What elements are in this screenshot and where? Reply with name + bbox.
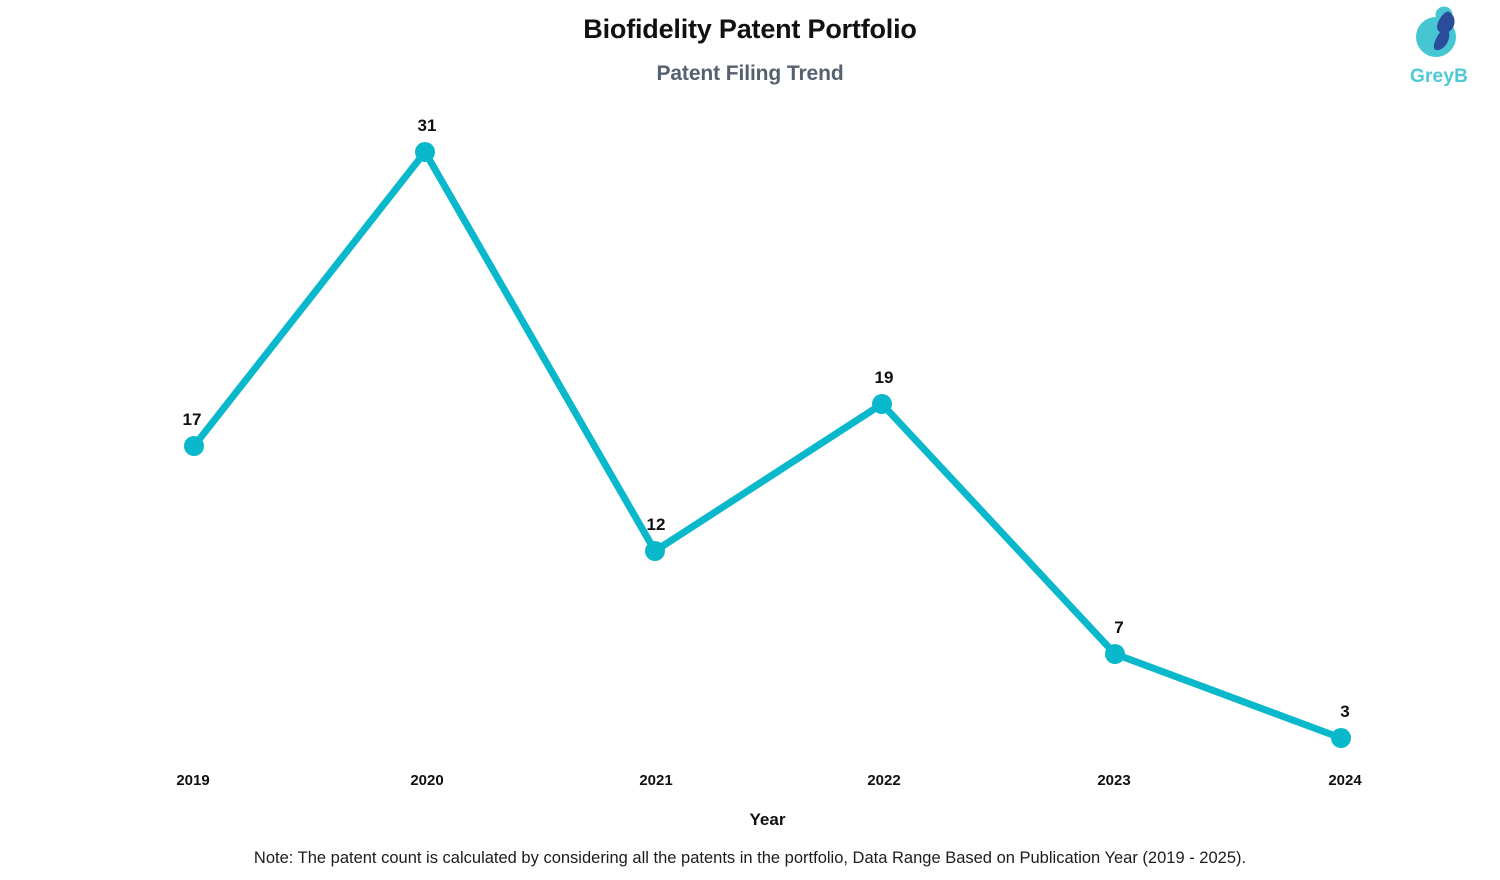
data-point-value-label: 17	[183, 410, 202, 430]
x-axis-tick-2024: 2024	[1328, 772, 1361, 789]
data-point-value-label: 12	[647, 515, 666, 535]
x-axis-title: Year	[0, 810, 1500, 830]
data-point-value-label: 19	[875, 368, 894, 388]
data-point-value-label: 7	[1114, 618, 1123, 638]
footnote-note: Note: The patent count is calculated by …	[0, 849, 1500, 868]
x-axis-tick-2021: 2021	[639, 772, 672, 789]
data-point-value-label: 3	[1340, 702, 1349, 722]
x-axis-tick-2019: 2019	[176, 772, 209, 789]
x-axis-tick-2023: 2023	[1097, 772, 1130, 789]
data-point-marker[interactable]	[645, 541, 665, 561]
data-point-marker[interactable]	[415, 142, 435, 162]
patent-filing-trend-line	[194, 152, 1341, 738]
data-point-marker[interactable]	[184, 436, 204, 456]
data-point-marker[interactable]	[1331, 728, 1351, 748]
line-chart-plot	[0, 0, 1500, 880]
data-point-marker[interactable]	[1105, 644, 1125, 664]
x-axis-tick-2020: 2020	[410, 772, 443, 789]
data-point-value-label: 31	[418, 116, 437, 136]
x-axis-tick-2022: 2022	[867, 772, 900, 789]
chart-root: Biofidelity Patent Portfolio Patent Fili…	[0, 0, 1500, 880]
data-point-marker[interactable]	[872, 394, 892, 414]
